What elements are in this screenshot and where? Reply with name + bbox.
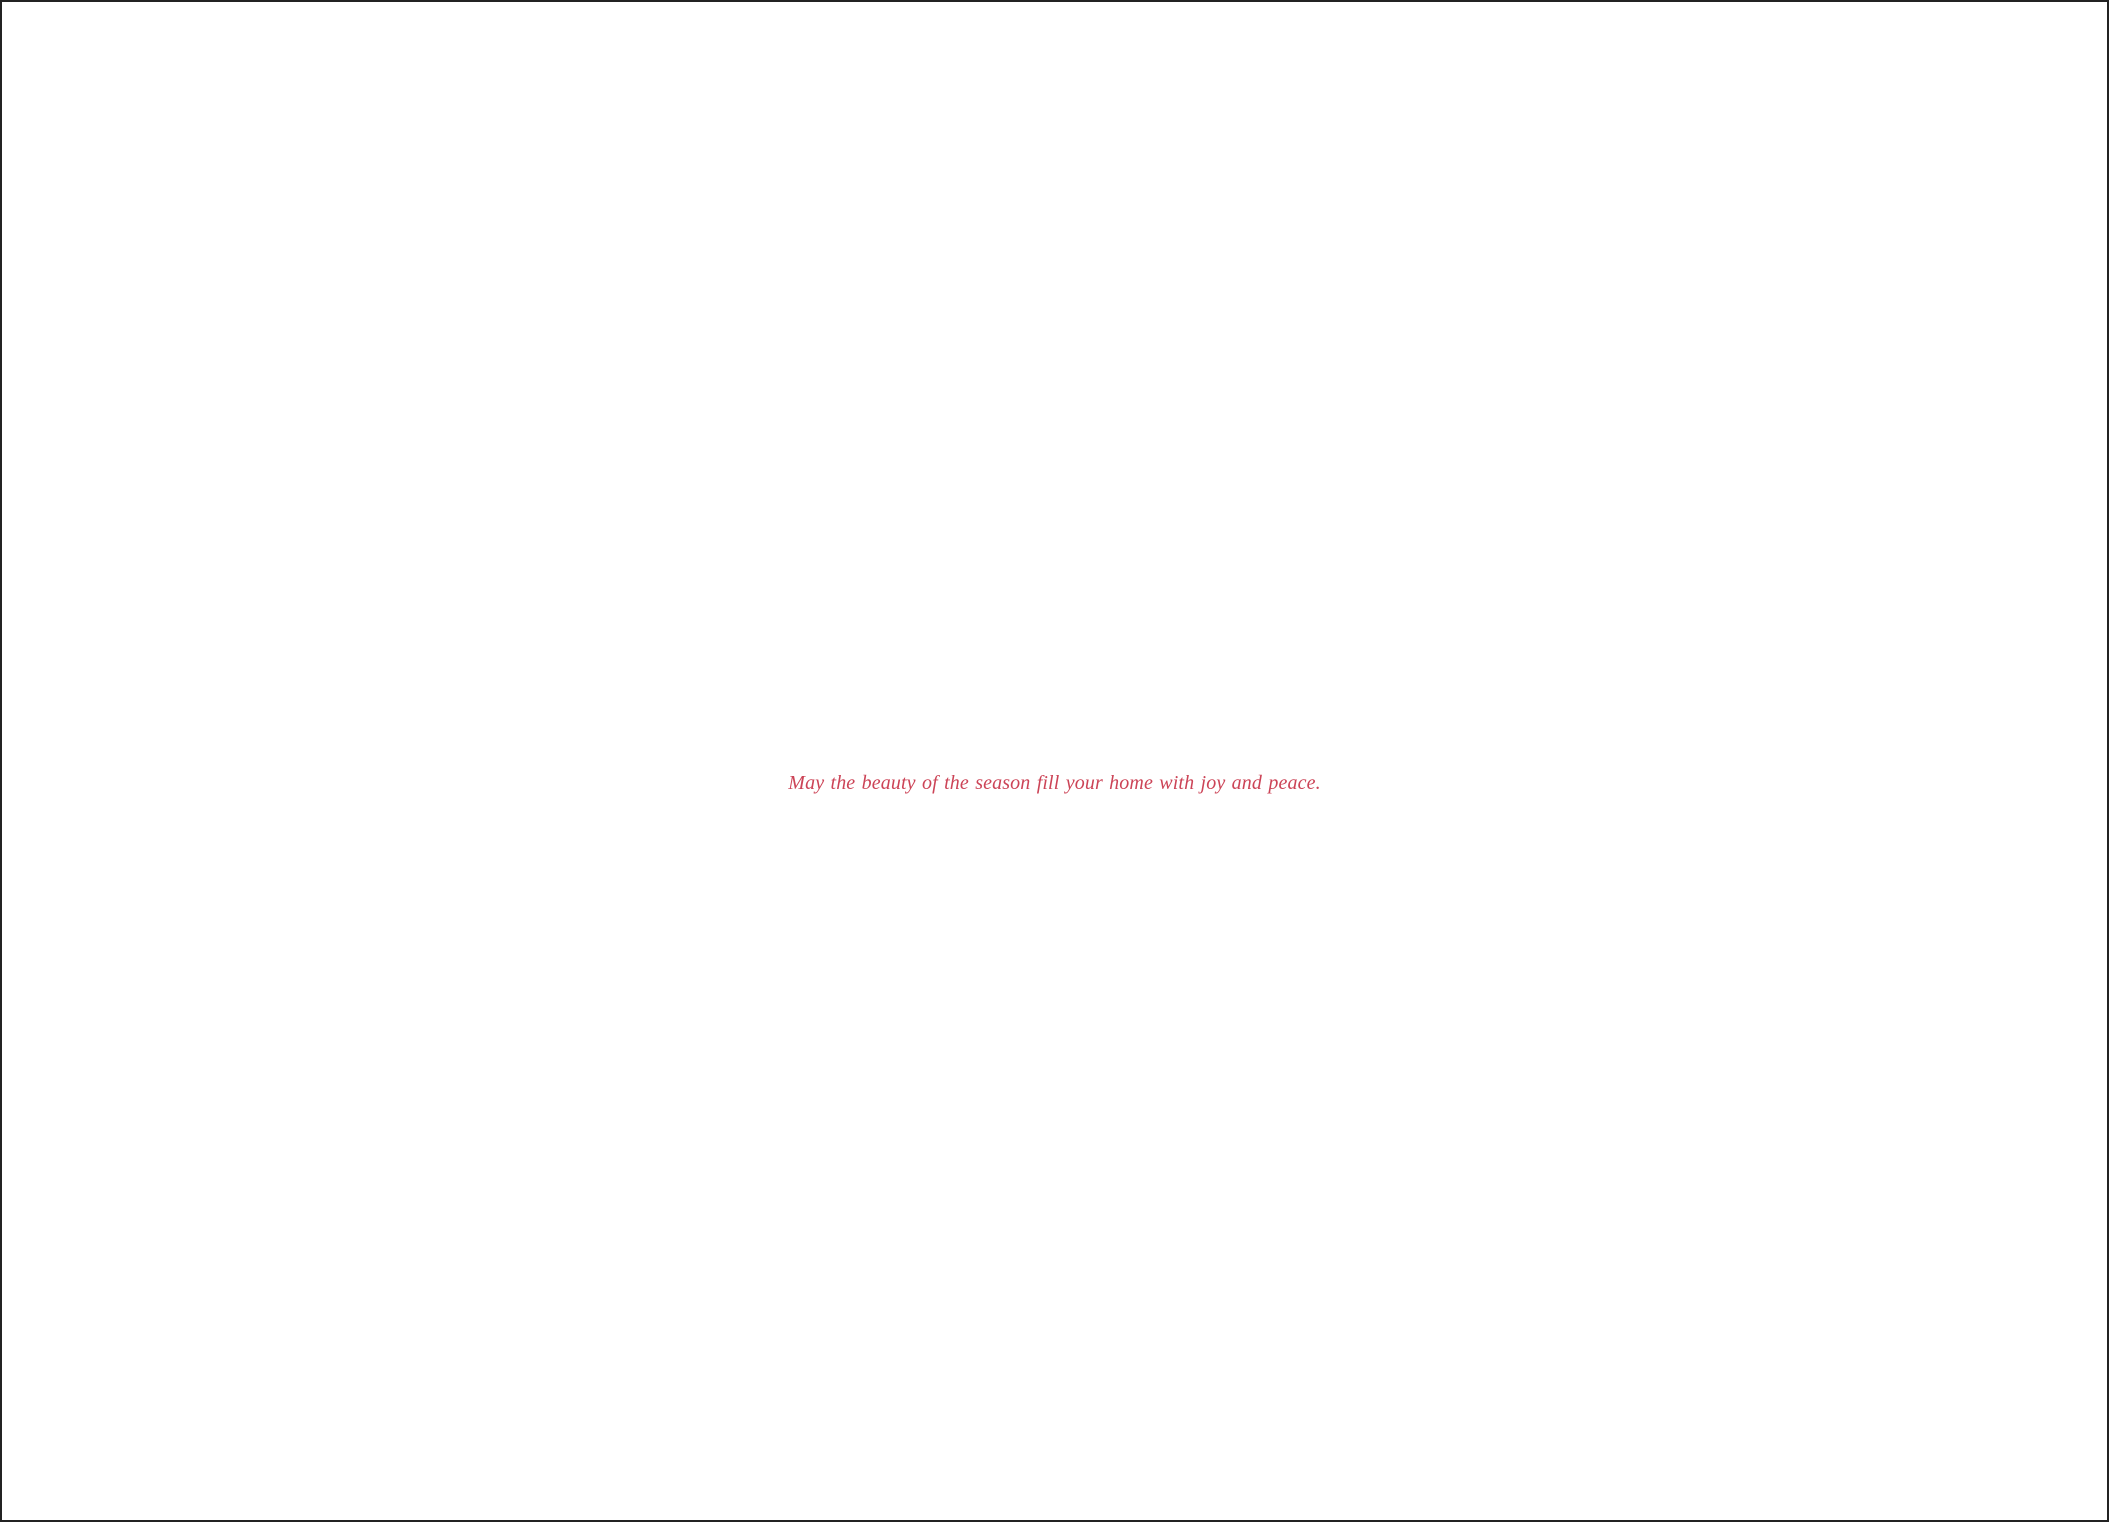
greeting-message: May the beauty of the season fill your h… — [2, 772, 2107, 794]
greeting-area: May the beauty of the season fill your h… — [2, 2, 2107, 1520]
card-page: May the beauty of the season fill your h… — [0, 0, 2109, 1522]
